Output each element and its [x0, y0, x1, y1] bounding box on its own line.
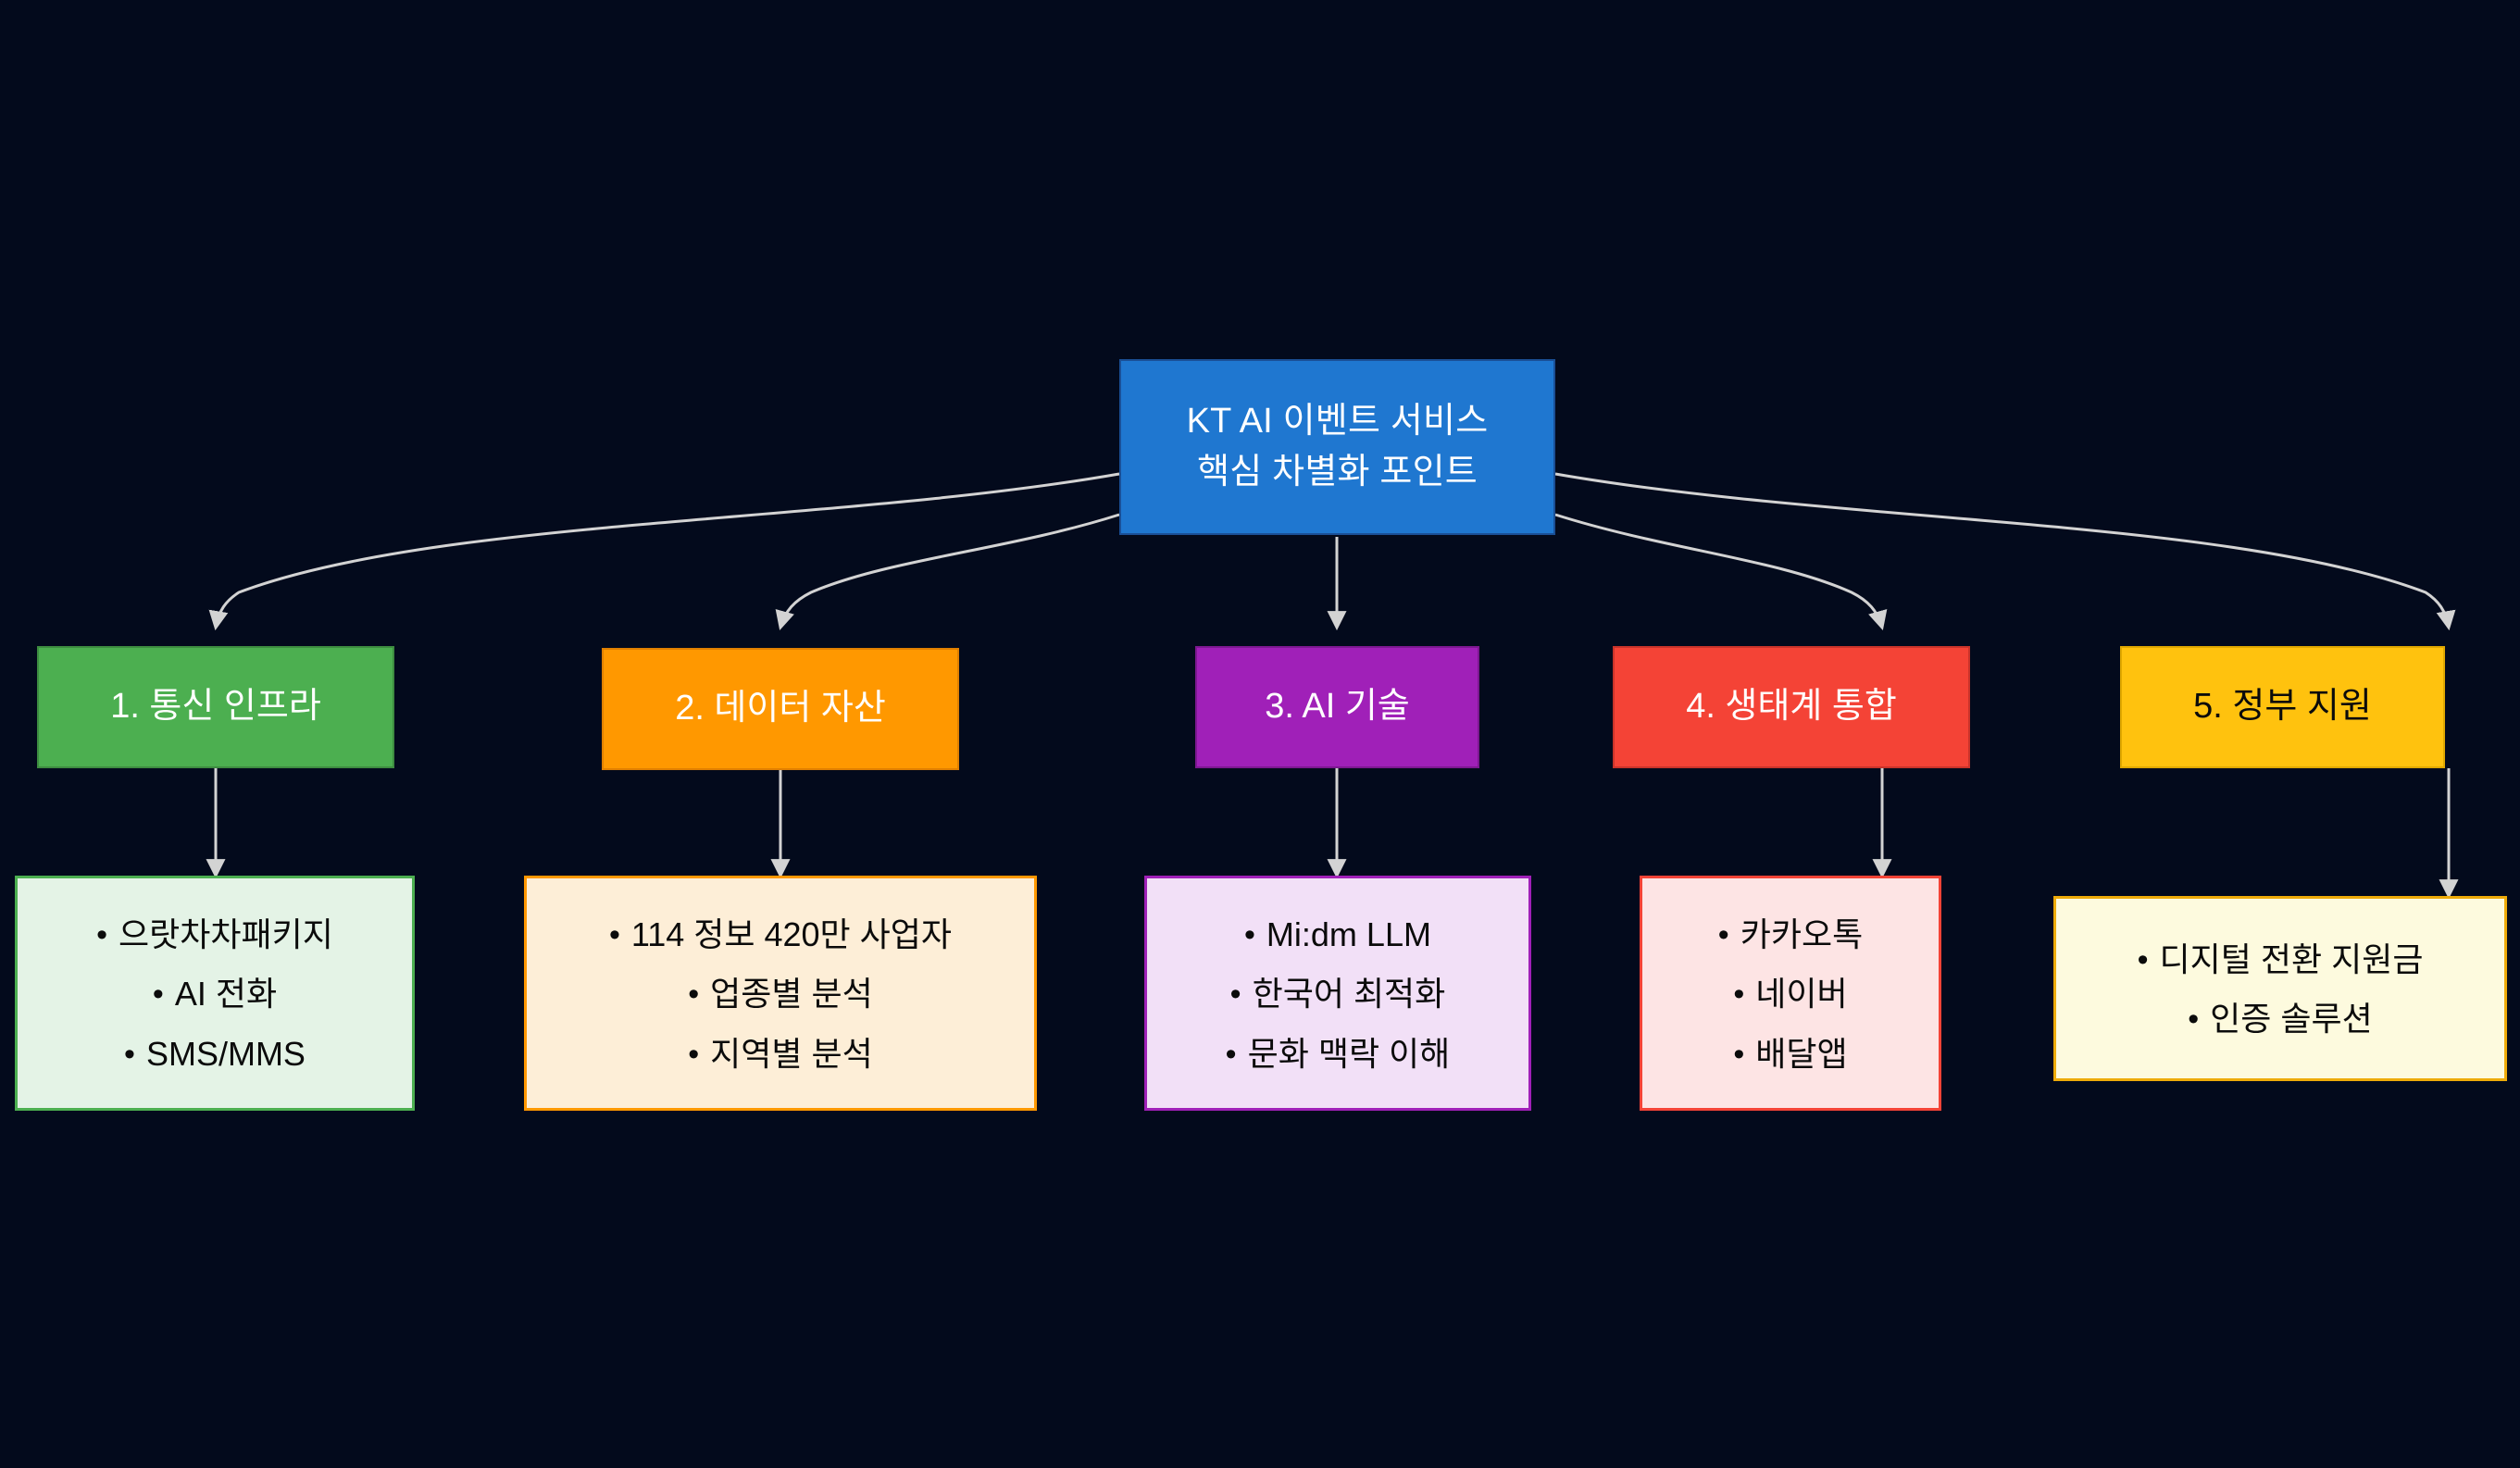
edge-root-to-branch-2 — [780, 515, 1119, 628]
node-category-1[interactable]: 1. 통신 인프라 — [37, 646, 394, 768]
detail-1-list: •으랏차차패키지 •AI 전화 •SMS/MMS — [96, 915, 333, 1070]
diagram-canvas: KT AI 이벤트 서비스 핵심 차별화 포인트 1. 통신 인프라 •으랏차차… — [0, 0, 2520, 1468]
node-root[interactable]: KT AI 이벤트 서비스 핵심 차별화 포인트 — [1119, 359, 1555, 535]
list-item: •SMS/MMS — [96, 1035, 333, 1070]
detail-3-list: •Mi:dm LLM •한국어 최적화 •문화 맥락 이해 — [1226, 915, 1451, 1070]
edge-root-to-branch-4 — [1555, 515, 1882, 628]
list-item: •배달앱 — [1718, 1035, 1863, 1070]
root-title-line-2: 핵심 차별화 포인트 — [1197, 447, 1478, 498]
root-title-line-1: KT AI 이벤트 서비스 — [1187, 396, 1489, 447]
list-item: •문화 맥락 이해 — [1226, 1035, 1451, 1070]
node-category-3[interactable]: 3. AI 기술 — [1195, 646, 1479, 768]
node-detail-1[interactable]: •으랏차차패키지 •AI 전화 •SMS/MMS — [15, 876, 415, 1111]
bullet-icon: • — [1230, 978, 1241, 1010]
node-category-5[interactable]: 5. 정부 지원 — [2120, 646, 2445, 768]
detail-5-list: •디지털 전환 지원금 •인증 솔루션 — [2138, 941, 2424, 1037]
edge-root-to-branch-5 — [1555, 474, 2449, 628]
bullet-icon: • — [124, 1039, 135, 1070]
bullet-icon: • — [96, 919, 107, 951]
category-1-label: 1. 통신 인프라 — [110, 684, 321, 729]
list-item: •업종별 분석 — [609, 976, 952, 1011]
list-item: •네이버 — [1718, 976, 1863, 1011]
edge-root-to-branch-1 — [216, 474, 1119, 628]
list-item: •지역별 분석 — [609, 1035, 952, 1070]
bullet-icon: • — [1733, 978, 1744, 1010]
node-detail-2[interactable]: •114 정보 420만 사업자 •업종별 분석 •지역별 분석 — [524, 876, 1037, 1111]
category-3-label: 3. AI 기술 — [1265, 684, 1410, 729]
list-item: •카카오톡 — [1718, 915, 1863, 951]
bullet-icon: • — [609, 919, 620, 951]
list-item: •AI 전화 — [96, 976, 333, 1011]
category-4-label: 4. 생태계 통합 — [1686, 684, 1897, 729]
bullet-icon: • — [2188, 1003, 2199, 1035]
list-item: •한국어 최적화 — [1226, 976, 1451, 1011]
bullet-icon: • — [1718, 919, 1729, 951]
list-item: •Mi:dm LLM — [1226, 915, 1451, 951]
detail-4-list: •카카오톡 •네이버 •배달앱 — [1718, 915, 1863, 1070]
node-detail-3[interactable]: •Mi:dm LLM •한국어 최적화 •문화 맥락 이해 — [1144, 876, 1531, 1111]
detail-2-list: •114 정보 420만 사업자 •업종별 분석 •지역별 분석 — [609, 915, 952, 1070]
bullet-icon: • — [153, 978, 164, 1010]
node-detail-4[interactable]: •카카오톡 •네이버 •배달앱 — [1640, 876, 1941, 1111]
category-2-label: 2. 데이터 자산 — [675, 686, 886, 731]
node-category-4[interactable]: 4. 생태계 통합 — [1613, 646, 1970, 768]
bullet-icon: • — [1244, 919, 1255, 951]
list-item: •디지털 전환 지원금 — [2138, 941, 2424, 977]
list-item: •인증 솔루션 — [2138, 1001, 2424, 1036]
list-item: •114 정보 420만 사업자 — [609, 915, 952, 951]
category-5-label: 5. 정부 지원 — [2193, 684, 2372, 729]
node-detail-5[interactable]: •디지털 전환 지원금 •인증 솔루션 — [2053, 896, 2507, 1081]
bullet-icon: • — [2138, 944, 2149, 976]
bullet-icon: • — [688, 978, 699, 1010]
node-category-2[interactable]: 2. 데이터 자산 — [602, 648, 959, 770]
bullet-icon: • — [1226, 1039, 1237, 1070]
bullet-icon: • — [688, 1039, 699, 1070]
list-item: •으랏차차패키지 — [96, 915, 333, 951]
bullet-icon: • — [1733, 1039, 1744, 1070]
